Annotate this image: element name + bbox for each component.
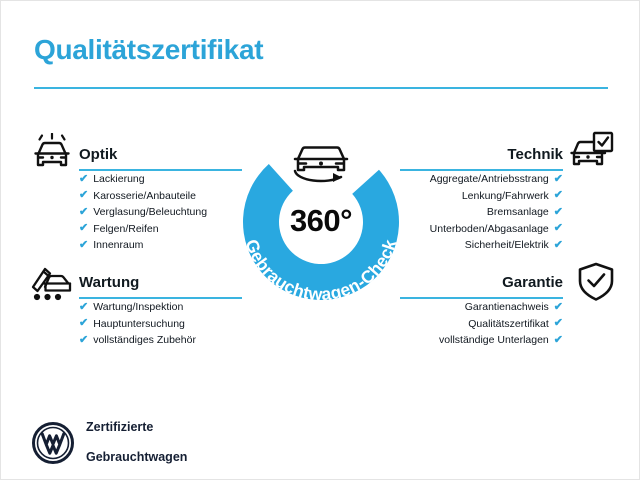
section-garantie-list: Garantienachweis✔ Qualitätszertifikat✔ v… [400,299,563,349]
check-icon: ✔ [79,318,88,329]
list-item: ✔Hauptuntersuchung [79,316,242,333]
list-item-label: Karosserie/Anbauteile [93,188,196,205]
list-item: ✔Wartung/Inspektion [79,299,242,316]
section-optik-divider [79,169,242,171]
certificate-canvas: Qualitätszertifikat [0,0,640,480]
section-wartung-list: ✔Wartung/Inspektion ✔Hauptuntersuchung ✔… [79,299,242,349]
check-icon: ✔ [79,190,88,201]
check-icon: ✔ [79,302,88,313]
list-item-label: Aggregate/Antriebsstrang [430,171,549,188]
check-icon: ✔ [554,302,563,313]
volkswagen-logo-icon [32,422,74,464]
section-wartung-header: Wartung [79,269,242,299]
list-item-label: Qualitätszertifikat [468,316,549,333]
brand-line-1: Zertifizierte [86,420,187,435]
list-item-label: Lackierung [93,171,144,188]
check-icon: ✔ [79,223,88,234]
list-item: ✔vollständiges Zubehör [79,332,242,349]
list-item-label: Bremsanlage [487,204,549,221]
list-item-label: vollständiges Zubehör [93,332,196,349]
section-optik-header: Optik [79,141,242,171]
badge-360-gebrauchtwagen-check: Gebrauchtwagen-Check 360° [223,119,419,319]
section-optik-title: Optik [79,146,117,163]
check-icon: ✔ [554,335,563,346]
list-item: Sicherheit/Elektrik✔ [400,237,563,254]
list-item-label: Innenraum [93,237,143,254]
list-item-label: Wartung/Inspektion [93,299,183,316]
list-item-label: Felgen/Reifen [93,221,158,238]
section-wartung-divider [79,297,242,299]
brand-line-2: Gebrauchtwagen [86,450,187,465]
list-item: Unterboden/Abgasanlage✔ [400,221,563,238]
page-title: Qualitätszertifikat [34,34,263,66]
check-icon: ✔ [79,335,88,346]
section-garantie: Garantie Garantienachweis✔ Qualitätszert… [400,269,563,349]
list-item-label: Lenkung/Fahrwerk [462,188,549,205]
section-optik: Optik ✔Lackierung ✔Karosserie/Anbauteile… [79,141,242,254]
check-icon: ✔ [79,207,88,218]
brand-text: Zertifizierte Gebrauchtwagen [86,405,187,480]
section-technik-divider [400,169,563,171]
check-icon: ✔ [554,223,563,234]
car-shine-icon [29,133,75,175]
list-item: ✔Innenraum [79,237,242,254]
car-checkbox-icon [569,131,615,173]
section-technik-list: Aggregate/Antriebsstrang✔ Lenkung/Fahrwe… [400,171,563,254]
check-icon: ✔ [554,240,563,251]
list-item: Lenkung/Fahrwerk✔ [400,188,563,205]
section-technik-header: Technik [400,141,563,171]
check-icon: ✔ [554,174,563,185]
list-item: Garantienachweis✔ [400,299,563,316]
list-item: ✔Lackierung [79,171,242,188]
section-garantie-header: Garantie [400,269,563,299]
section-garantie-title: Garantie [502,274,563,291]
list-item-label: Garantienachweis [465,299,549,316]
section-wartung-title: Wartung [79,274,139,291]
section-technik-title: Technik [507,146,563,163]
list-item: Bremsanlage✔ [400,204,563,221]
list-item: Qualitätszertifikat✔ [400,316,563,333]
shield-check-icon [573,261,619,303]
badge-center-label: 360° [223,203,419,239]
section-wartung: Wartung ✔Wartung/Inspektion ✔Hauptunters… [79,269,242,349]
list-item-label: Sicherheit/Elektrik [465,237,549,254]
list-item: vollständige Unterlagen✔ [400,332,563,349]
check-icon: ✔ [554,318,563,329]
list-item-label: vollständige Unterlagen [439,332,549,349]
list-item-label: Unterboden/Abgasanlage [430,221,549,238]
list-item: ✔Verglasung/Beleuchtung [79,204,242,221]
list-item: ✔Felgen/Reifen [79,221,242,238]
check-icon: ✔ [79,174,88,185]
section-optik-list: ✔Lackierung ✔Karosserie/Anbauteile ✔Verg… [79,171,242,254]
list-item-label: Verglasung/Beleuchtung [93,204,207,221]
check-icon: ✔ [79,240,88,251]
car-service-pen-icon [29,261,75,303]
list-item: ✔Karosserie/Anbauteile [79,188,242,205]
check-icon: ✔ [554,207,563,218]
list-item-label: Hauptuntersuchung [93,316,185,333]
title-divider [34,87,608,89]
section-garantie-divider [400,297,563,299]
section-technik: Technik Aggregate/Antriebsstrang✔ Lenkun… [400,141,563,254]
brand-lockup: Zertifizierte Gebrauchtwagen [32,405,187,480]
check-icon: ✔ [554,190,563,201]
list-item: Aggregate/Antriebsstrang✔ [400,171,563,188]
